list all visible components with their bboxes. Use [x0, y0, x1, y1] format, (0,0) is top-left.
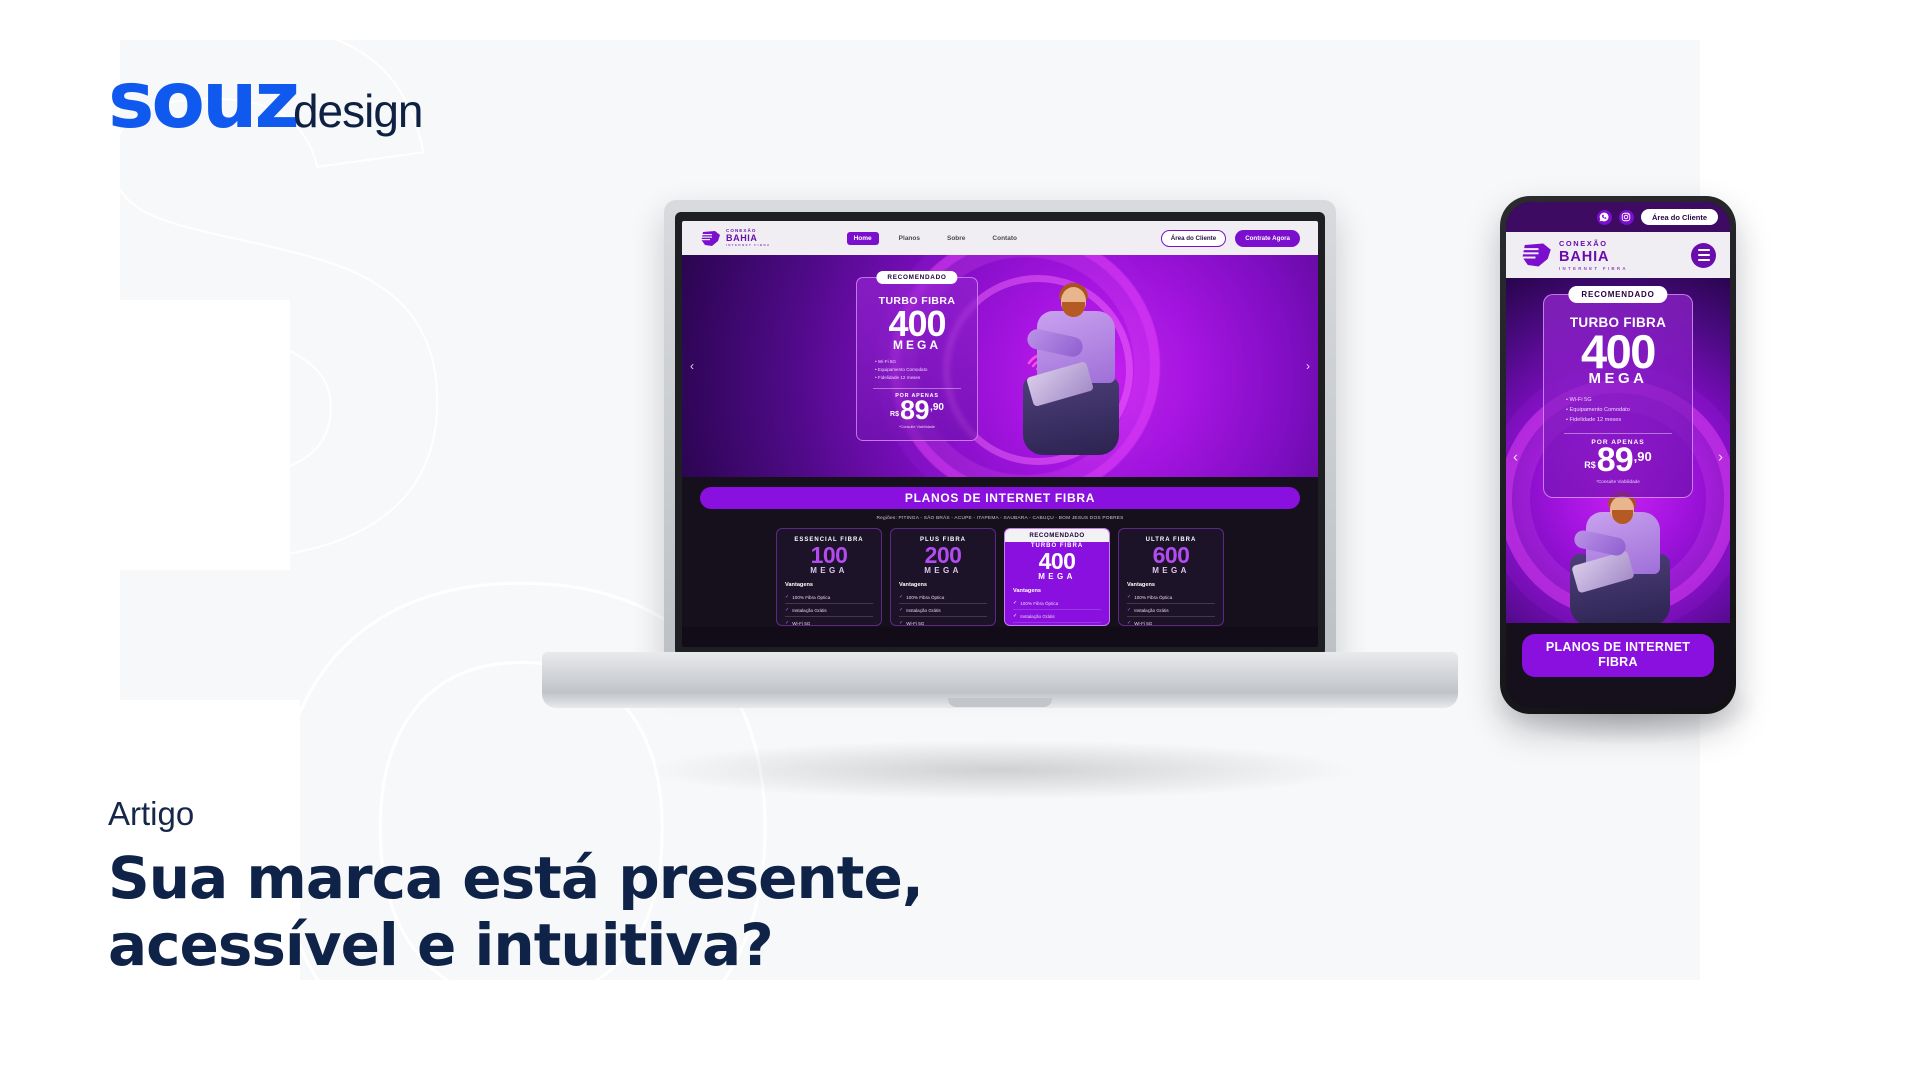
headline-line-2: acessível e intuitiva? [108, 912, 923, 979]
mobile-topbar: Área do Cliente [1506, 202, 1730, 232]
check-icon: ✓ [899, 607, 903, 613]
mobile-currency: R$ [1584, 460, 1596, 470]
check-icon: ✓ [1127, 594, 1131, 600]
plan-benefit-item: ✓100% Fibra Óptica [1013, 597, 1101, 610]
plan-benefit-item: ✓Instalação Grátis [785, 604, 873, 617]
mobile-brand-logo[interactable]: CONEXÃO BAHIA INTERNET FIBRA [1520, 239, 1628, 272]
brand-line-1: CONEXÃO [1559, 239, 1628, 248]
whatsapp-icon[interactable] [1597, 210, 1612, 225]
plan-card-speed: 400 [1013, 550, 1101, 573]
check-icon: ✓ [785, 620, 789, 626]
plan-card[interactable]: PLUS FIBRA 200 MEGA Vantagens ✓100% Fibr… [890, 528, 996, 626]
check-icon: ✓ [785, 594, 789, 600]
mobile-divider [1564, 433, 1672, 434]
check-icon: ✓ [1127, 607, 1131, 613]
plan-benefit-label: Instalação Grátis [1134, 608, 1168, 613]
mobile-brand-text: CONEXÃO BAHIA INTERNET FIBRA [1559, 239, 1628, 272]
plan-card-benefit-list: ✓100% Fibra Óptica ✓Instalação Grátis [1013, 597, 1101, 623]
hero-speed-value: 400 [865, 307, 969, 340]
plan-benefit-label: Wi-Fi 5G [906, 621, 924, 626]
mobile-price-cents: ,90 [1634, 449, 1652, 464]
plans-section-banner: PLANOS DE INTERNET FIBRA [700, 487, 1300, 509]
phone-screen: Área do Cliente CONEXÃO BAHIA [1506, 202, 1730, 708]
mobile-feature-item: • Equipamento Comodato [1566, 405, 1682, 415]
mobile-carousel-next-arrow[interactable]: › [1718, 449, 1723, 466]
desktop-site-navbar: CONEXÃO BAHIA INTERNET FIBRA Home Planos… [682, 221, 1318, 255]
plan-card-benefit-list: ✓100% Fibra Óptica ✓Instalação Grátis ✓W… [899, 591, 987, 626]
laptop-bezel: CONEXÃO BAHIA INTERNET FIBRA Home Planos… [675, 212, 1325, 656]
plan-card-speed: 200 [899, 544, 987, 567]
instagram-icon[interactable] [1619, 210, 1634, 225]
plan-benefit-item: ✓Instalação Grátis [1127, 604, 1215, 617]
plan-benefit-label: Wi-Fi 5G [1134, 621, 1152, 626]
plan-card-speed: 600 [1127, 544, 1215, 567]
laptop-lid: CONEXÃO BAHIA INTERNET FIBRA Home Planos… [664, 200, 1336, 670]
client-area-button[interactable]: Área do Cliente [1161, 230, 1226, 247]
plan-card-unit: MEGA [1127, 566, 1215, 575]
hero-feature-item: • Fidelidade 12 meses [875, 374, 969, 382]
mobile-plans-button[interactable]: PLANOS DE INTERNET FIBRA [1522, 634, 1714, 677]
mobile-feature-item: • Fidelidade 12 meses [1566, 415, 1682, 425]
carousel-next-arrow[interactable]: › [1306, 359, 1310, 373]
mobile-client-area-button[interactable]: Área do Cliente [1641, 209, 1718, 225]
brand-line-2: BAHIA [726, 234, 771, 243]
plan-card-unit: MEGA [899, 566, 987, 575]
hero-speed-unit: MEGA [865, 338, 969, 352]
mobile-hero-banner: RECOMENDADO TURBO FIBRA 400 MEGA • Wi-Fi… [1506, 278, 1730, 623]
mobile-price-value: 89 [1597, 445, 1633, 476]
article-copy-block: Artigo Sua marca está presente, acessíve… [108, 795, 923, 980]
plan-benefit-item: ✓100% Fibra Óptica [899, 591, 987, 604]
plan-card-unit: MEGA [785, 566, 873, 575]
desktop-brand-logo[interactable]: CONEXÃO BAHIA INTERNET FIBRA [700, 229, 771, 247]
mobile-speed-unit: MEGA [1554, 370, 1682, 387]
plan-benefit-item: ✓Wi-Fi 5G [899, 617, 987, 626]
hero-disclaimer: *Consulte Viabilidade [865, 425, 969, 429]
hero-divider [873, 388, 961, 389]
laptop-mockup: CONEXÃO BAHIA INTERNET FIBRA Home Planos… [640, 200, 1360, 800]
phone-body: Área do Cliente CONEXÃO BAHIA [1500, 196, 1736, 714]
mobile-disclaimer: *Consulte Viabilidade [1554, 479, 1682, 484]
brand-line-3: INTERNET FIBRA [1559, 266, 1628, 271]
watermark-block-2 [0, 300, 290, 570]
mobile-recommended-badge: RECOMENDADO [1568, 286, 1667, 303]
hire-now-button[interactable]: Contrate Agora [1235, 230, 1300, 247]
mobile-speed-value: 400 [1554, 330, 1682, 373]
laptop-front-notch [948, 698, 1052, 707]
hero-feature-item: • Wi-Fi 5G [875, 358, 969, 366]
mobile-hero-offer-card: RECOMENDADO TURBO FIBRA 400 MEGA • Wi-Fi… [1543, 294, 1693, 498]
plan-benefit-item: ✓100% Fibra Óptica [1127, 591, 1215, 604]
plan-benefit-item: ✓Wi-Fi 5G [785, 617, 873, 626]
headline-line-1: Sua marca está presente, [108, 845, 923, 912]
plans-regions-text: Regiões: PITINGA - SÃO BRÁS - ACUPE - IT… [700, 516, 1300, 521]
article-kicker: Artigo [108, 795, 923, 833]
hero-recommended-badge: RECOMENDADO [876, 271, 957, 284]
mobile-carousel-prev-arrow[interactable]: ‹ [1513, 449, 1518, 466]
desktop-hero-banner: RECOMENDADO TURBO FIBRA 400 MEGA • Wi-Fi… [682, 255, 1318, 477]
mobile-feature-item: • Wi-Fi 5G [1566, 395, 1682, 405]
plan-benefit-label: 100% Fibra Óptica [1134, 595, 1172, 600]
hero-price-cents: ,90 [930, 402, 944, 413]
brand-line-2: BAHIA [1559, 249, 1628, 265]
check-icon: ✓ [899, 620, 903, 626]
brand-line-3: INTERNET FIBRA [726, 244, 771, 247]
plans-card-grid: ESSENCIAL FIBRA 100 MEGA Vantagens ✓100%… [700, 528, 1300, 626]
mobile-price-block: R$ 89 ,90 [1554, 445, 1682, 476]
plan-card-advantages-label: Vantagens [899, 582, 987, 588]
plan-card[interactable]: ESSENCIAL FIBRA 100 MEGA Vantagens ✓100%… [776, 528, 882, 626]
hero-price-block: R$ 89 ,90 [865, 398, 969, 422]
bahia-map-icon [700, 230, 722, 247]
souz-design-logo[interactable]: souz design [108, 62, 423, 140]
desktop-brand-text: CONEXÃO BAHIA INTERNET FIBRA [726, 229, 771, 247]
mobile-person-illustration [1552, 500, 1684, 623]
hero-price-value: 89 [900, 398, 929, 422]
plan-benefit-label: Wi-Fi 5G [792, 621, 810, 626]
logo-suffix: design [293, 88, 423, 134]
nav-item-contato[interactable]: Contato [985, 232, 1024, 245]
article-headline: Sua marca está presente, acessível e int… [108, 845, 923, 980]
plan-card-advantages-label: Vantagens [785, 582, 873, 588]
logo-wordmark: souz [108, 62, 297, 140]
watermark-block-top [0, 0, 1920, 40]
mobile-plans-button-line-2: FIBRA [1522, 655, 1714, 670]
plan-benefit-item: ✓Instalação Grátis [1013, 610, 1101, 623]
plan-benefit-item: ✓Instalação Grátis [899, 604, 987, 617]
plan-benefit-label: 100% Fibra Óptica [906, 595, 944, 600]
plan-card-benefit-list: ✓100% Fibra Óptica ✓Instalação Grátis ✓W… [785, 591, 873, 626]
plan-benefit-label: 100% Fibra Óptica [792, 595, 830, 600]
nav-item-sobre[interactable]: Sobre [940, 232, 972, 245]
hero-feature-item: • Equipamento Comodato [875, 366, 969, 374]
desktop-nav-items: Home Planos Sobre Contato [847, 232, 1024, 245]
plan-card-featured[interactable]: RECOMENDADO TURBO FIBRA 400 MEGA Vantage… [1004, 528, 1110, 626]
mobile-feature-list: • Wi-Fi 5G • Equipamento Comodato • Fide… [1554, 395, 1682, 425]
plan-card-advantages-label: Vantagens [1127, 582, 1215, 588]
hamburger-menu-icon[interactable] [1691, 243, 1716, 268]
nav-item-home[interactable]: Home [847, 232, 879, 245]
check-icon: ✓ [1013, 613, 1017, 619]
plan-card-benefit-list: ✓100% Fibra Óptica ✓Instalação Grátis ✓W… [1127, 591, 1215, 626]
hero-offer-card: RECOMENDADO TURBO FIBRA 400 MEGA • Wi-Fi… [856, 277, 978, 441]
mobile-bottom-section: PLANOS DE INTERNET FIBRA [1506, 623, 1730, 688]
hero-feature-list: • Wi-Fi 5G • Equipamento Comodato • Fide… [865, 358, 969, 382]
check-icon: ✓ [899, 594, 903, 600]
plan-benefit-item: ✓Wi-Fi 5G [1127, 617, 1215, 626]
hero-currency: R$ [890, 411, 899, 418]
laptop-shadow [640, 740, 1360, 800]
desktop-plans-section: PLANOS DE INTERNET FIBRA Regiões: PITING… [682, 477, 1318, 627]
plan-benefit-label: 100% Fibra Óptica [1020, 601, 1058, 606]
mobile-navbar: CONEXÃO BAHIA INTERNET FIBRA [1506, 232, 1730, 278]
check-icon: ✓ [1127, 620, 1131, 626]
plan-card[interactable]: ULTRA FIBRA 600 MEGA Vantagens ✓100% Fib… [1118, 528, 1224, 626]
check-icon: ✓ [1013, 600, 1017, 606]
desktop-nav-actions: Área do Cliente Contrate Agora [1161, 230, 1300, 247]
check-icon: ✓ [785, 607, 789, 613]
plan-benefit-item: ✓100% Fibra Óptica [785, 591, 873, 604]
phone-mockup: Área do Cliente CONEXÃO BAHIA [1500, 196, 1750, 746]
laptop-screen: CONEXÃO BAHIA INTERNET FIBRA Home Planos… [682, 221, 1318, 647]
plan-card-recommended-badge: RECOMENDADO [1005, 529, 1109, 542]
plan-benefit-label: Instalação Grátis [792, 608, 826, 613]
plan-card-speed: 100 [785, 544, 873, 567]
hero-person-illustration [1013, 285, 1145, 477]
plan-benefit-label: Instalação Grátis [906, 608, 940, 613]
plan-card-unit: MEGA [1013, 572, 1101, 581]
bahia-map-icon [1520, 242, 1554, 268]
mobile-plans-button-line-1: PLANOS DE INTERNET [1522, 640, 1714, 655]
carousel-prev-arrow[interactable]: ‹ [690, 359, 694, 373]
plan-card-advantages-label: Vantagens [1013, 588, 1101, 594]
nav-item-planos[interactable]: Planos [892, 232, 927, 245]
plan-benefit-label: Instalação Grátis [1020, 614, 1054, 619]
